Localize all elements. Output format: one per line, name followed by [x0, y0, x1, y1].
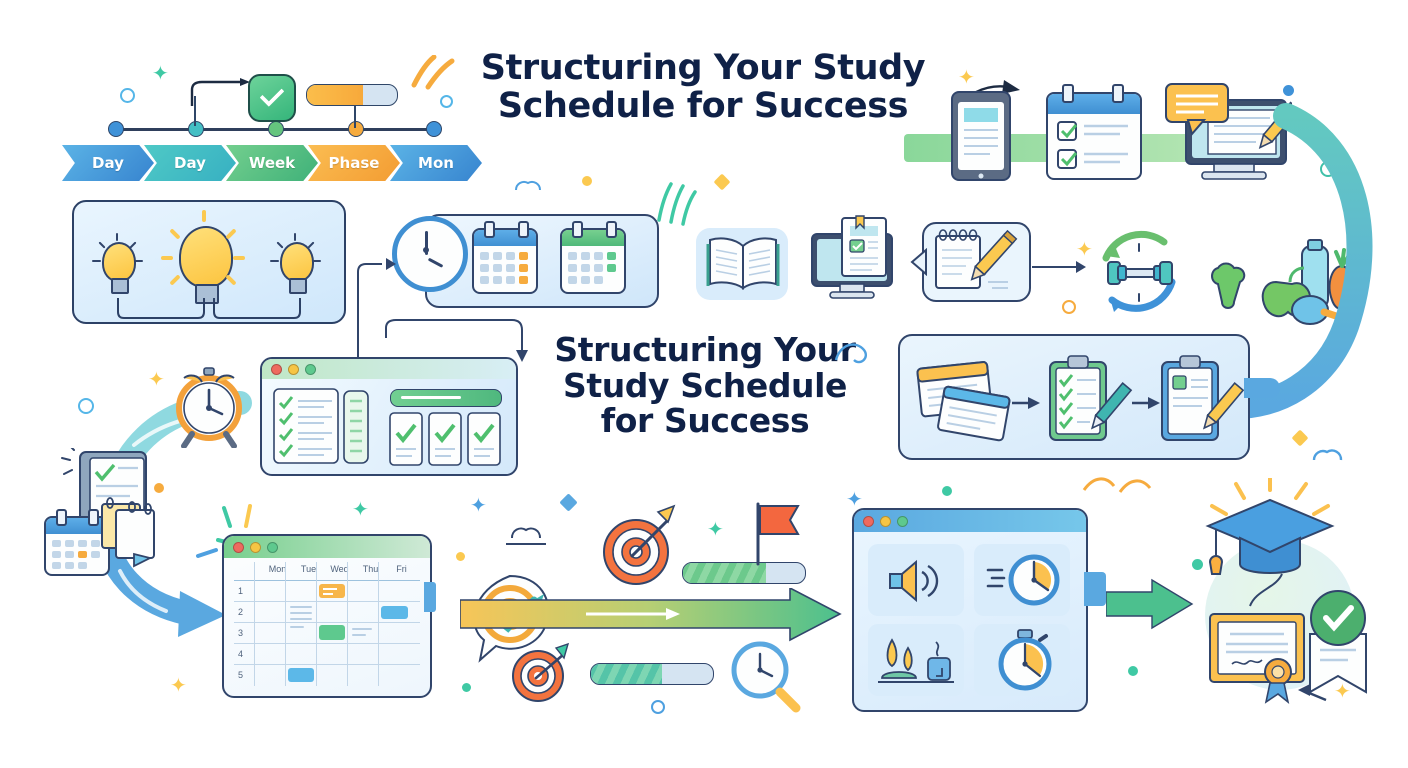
diamond-decoration — [559, 493, 577, 511]
column-header: Mon — [262, 564, 293, 574]
focus-tile-environment[interactable] — [868, 624, 964, 696]
page-title: Structuring Your Study Schedule for Succ… — [478, 50, 928, 126]
open-book-icon — [700, 230, 786, 298]
row-header: 3 — [238, 628, 243, 638]
minimize-icon[interactable] — [880, 516, 891, 527]
sparkle-icon: ✦ — [707, 520, 724, 540]
graduation-result-group — [1196, 478, 1386, 708]
sparkle-icon: ✦ — [1334, 682, 1351, 702]
task-block[interactable] — [381, 606, 408, 619]
sparkle-icon: ✦ — [148, 370, 165, 390]
task-block[interactable] — [319, 584, 345, 598]
sparkle-icon: ✦ — [170, 676, 187, 696]
flow-arrow-head-icon — [1076, 261, 1086, 273]
row-header: 1 — [238, 586, 243, 596]
column-header: Tue — [293, 564, 324, 574]
target-arrow-icon — [508, 640, 578, 706]
timeline-step-4[interactable]: Phase — [308, 145, 400, 181]
timeline-progress-fill — [307, 85, 363, 105]
ring-decoration — [440, 95, 453, 108]
timeline-step-label: Day — [92, 154, 124, 172]
window-titlebar — [262, 359, 516, 379]
ring-decoration — [78, 398, 94, 414]
timeline-node[interactable] — [426, 121, 442, 137]
focus-tile-sound[interactable] — [868, 544, 964, 616]
ring-decoration — [651, 700, 665, 714]
sparkle-icon: ✦ — [958, 68, 975, 88]
notepad-pencil-icon — [930, 226, 1022, 294]
progress-fill — [591, 664, 662, 684]
task-block[interactable] — [319, 625, 345, 640]
tablet-icon — [948, 88, 1014, 184]
clipboard-pencil-icon — [1158, 354, 1248, 444]
timeline-progress-bar — [306, 84, 398, 106]
maximize-icon[interactable] — [267, 542, 278, 553]
ring-decoration — [120, 88, 135, 103]
column-header: Thu — [355, 564, 386, 574]
timeline-step-2[interactable]: Day — [144, 145, 236, 181]
window-tab-decoration — [1084, 572, 1106, 606]
cloud-decoration — [1306, 436, 1366, 466]
dumbbell-clock-icon — [1086, 222, 1196, 322]
timeline-node[interactable] — [108, 121, 124, 137]
bracket-decoration — [114, 296, 314, 322]
flow-arrow-icon — [1012, 394, 1042, 412]
monitor-document-icon — [806, 212, 902, 304]
final-arrow — [1106, 578, 1196, 634]
clock-magnifier-icon — [726, 638, 806, 714]
column-header: Wed — [324, 564, 355, 574]
dot-decoration — [942, 486, 952, 496]
focus-environment-window[interactable] — [852, 508, 1088, 712]
dot-decoration — [1128, 666, 1138, 676]
sparkle-icon: ✦ — [352, 500, 369, 520]
dot-decoration — [582, 176, 592, 186]
timeline-step-5[interactable]: Mon — [390, 145, 482, 181]
timeline-step-label: Week — [249, 154, 295, 172]
sparkle-icon: ✦ — [470, 496, 487, 516]
flag-icon — [750, 500, 810, 570]
maximize-icon[interactable] — [305, 364, 316, 375]
row-header: 2 — [238, 607, 243, 617]
weekly-schedule-table[interactable]: Mon Tue Wed Thu Fri 1 2 3 4 5 — [222, 534, 432, 698]
window-tab-decoration — [424, 582, 436, 612]
calendar-ring-icon — [56, 509, 67, 526]
note-cards-icon — [916, 358, 1026, 442]
calendar-check-rows — [1056, 120, 1134, 174]
timeline-node[interactable] — [348, 121, 364, 137]
note-sheets-icon — [98, 492, 170, 572]
timeline-check-icon — [248, 74, 296, 122]
alarm-clock-icon — [166, 362, 252, 448]
sparkle-icon: ✦ — [1076, 240, 1093, 260]
maximize-icon[interactable] — [897, 516, 908, 527]
timeline-node[interactable] — [188, 121, 204, 137]
task-block[interactable] — [288, 668, 314, 682]
flow-connector — [1244, 378, 1280, 398]
minimize-icon[interactable] — [288, 364, 299, 375]
stopwatch-icon — [996, 628, 1054, 692]
diamond-decoration — [714, 174, 731, 191]
dot-decoration — [1283, 85, 1294, 96]
progress-bar-track — [590, 663, 714, 685]
calendar-ring-icon — [572, 221, 583, 238]
calendar-ring-icon — [1112, 84, 1124, 103]
column-header: Fri — [386, 564, 417, 574]
timeline-node[interactable] — [268, 121, 284, 137]
timeline-connector — [354, 104, 356, 128]
check-cards — [388, 411, 504, 469]
close-icon[interactable] — [863, 516, 874, 527]
ribbon-decoration — [1080, 470, 1160, 500]
infographic-canvas: Structuring Your Study Schedule for Succ… — [0, 0, 1408, 768]
cloud-decoration — [512, 172, 552, 196]
dot-decoration — [462, 683, 471, 692]
timeline-step-3[interactable]: Week — [226, 145, 318, 181]
timeline-step-1[interactable]: Day — [62, 145, 154, 181]
calendar-checklist-icon — [1046, 92, 1142, 180]
timeline-step-label: Day — [174, 154, 206, 172]
swoosh-decoration — [655, 180, 701, 230]
timeline-step-label: Phase — [329, 154, 380, 172]
dot-decoration — [1192, 559, 1203, 570]
window-titlebar — [224, 536, 430, 558]
swoosh-decoration — [408, 55, 458, 91]
minimize-icon[interactable] — [250, 542, 261, 553]
timeline-step-label: Mon — [418, 154, 454, 172]
target-arrow-icon — [596, 500, 686, 590]
row-header: 4 — [238, 649, 243, 659]
window-titlebar — [854, 510, 1086, 532]
close-icon[interactable] — [233, 542, 244, 553]
flow-arrow-icon — [1032, 266, 1078, 268]
close-icon[interactable] — [271, 364, 282, 375]
clipboard-check-icon — [1046, 354, 1136, 444]
sparkle-icon: ✦ — [152, 64, 169, 84]
dot-decoration — [456, 552, 465, 561]
calendar-icon — [560, 228, 626, 294]
cloud-decoration — [500, 520, 560, 548]
clock-icon — [986, 552, 1064, 610]
progress-banner — [390, 389, 502, 407]
calendar-ring-icon — [1062, 84, 1074, 103]
notes-to-clipboard-flow — [898, 334, 1250, 460]
calendar-ring-icon — [606, 221, 617, 238]
candle-coffee-icon — [876, 632, 960, 690]
dot-decoration — [154, 483, 164, 493]
focus-tile-clock[interactable] — [974, 544, 1070, 616]
ring-decoration — [1062, 300, 1076, 314]
focus-tile-timer[interactable] — [974, 624, 1070, 696]
lightbulb-icon — [280, 242, 314, 296]
connector-arrows — [352, 212, 542, 362]
bubble-tail-icon — [908, 248, 928, 276]
lightbulb-icon — [102, 242, 136, 296]
lightbulb-icon — [179, 226, 235, 304]
ideas-lightbulbs-panel — [72, 200, 346, 324]
speaker-icon — [888, 558, 948, 604]
schedule-grid: Mon Tue Wed Thu Fri 1 2 3 4 5 — [234, 562, 420, 686]
row-header: 5 — [238, 670, 243, 680]
sparkle-icon: ✦ — [846, 490, 863, 510]
squiggle-decoration — [830, 330, 900, 370]
